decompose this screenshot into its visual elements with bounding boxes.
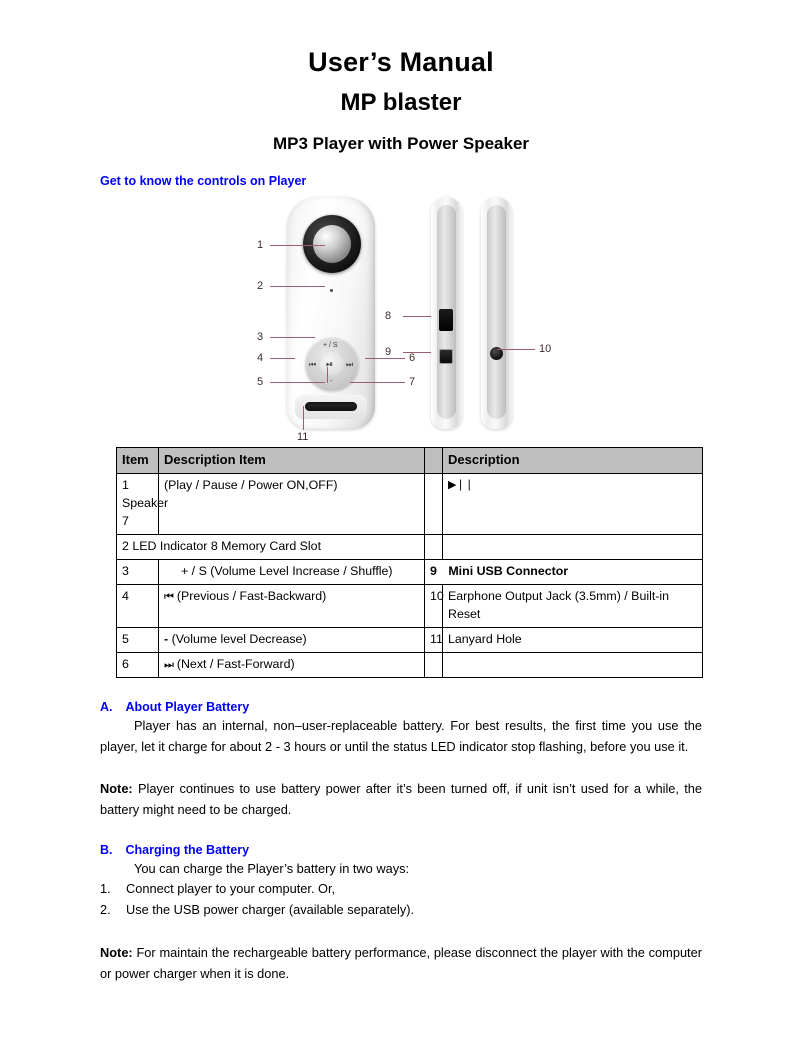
document-title-line1: User’s Manual xyxy=(100,0,702,78)
callout-6: 6 xyxy=(409,353,415,364)
product-diagram: + / S ⏮ ⏯ ⏭ - xyxy=(100,192,702,447)
table-row: 6 ⏭ (Next / Fast-Forward) xyxy=(117,652,703,677)
lanyard-hole-icon xyxy=(305,402,357,411)
section-b-heading: B. Charging the Battery xyxy=(100,843,702,857)
section-b-letter: B. xyxy=(100,843,113,857)
section-a-heading: A. About Player Battery xyxy=(100,700,702,714)
leader-line-5 xyxy=(270,382,325,383)
pad-label-previous: ⏮ xyxy=(309,361,316,369)
callout-11: 11 xyxy=(297,432,308,443)
row4-desc: (Previous / Fast-Backward) xyxy=(177,589,326,603)
leader-line-2 xyxy=(270,286,325,287)
th-item: Item xyxy=(117,448,159,474)
row3-desc2: Mini USB Connector xyxy=(440,564,568,578)
section-heading-controls: Get to know the controls on Player xyxy=(100,153,702,188)
row5-desc2: Lanyard Hole xyxy=(443,627,703,652)
table-row: 4 ⏮ (Previous / Fast-Backward) 10 Earpho… xyxy=(117,584,703,627)
row4-desc2: Earphone Output Jack (3.5mm) / Built-in … xyxy=(443,584,703,627)
row3-desc: + / S (Volume Level Increase / Shuffle) xyxy=(159,559,425,584)
row2-blank xyxy=(425,534,443,559)
row6-desc: (Next / Fast-Forward) xyxy=(177,657,295,671)
th-blank xyxy=(425,448,443,474)
row5-item: 5 xyxy=(117,627,159,652)
section-b-paragraph: You can charge the Player’s battery in t… xyxy=(100,859,702,880)
leader-line-7-v xyxy=(327,367,328,383)
leader-line-4 xyxy=(270,358,295,359)
callout-2: 2 xyxy=(257,281,263,292)
row1-blank xyxy=(425,474,443,535)
section-b-note: Note: For maintain the rechargeable batt… xyxy=(100,943,702,984)
list-item: 1. Connect player to your computer. Or, xyxy=(100,879,702,900)
section-a-letter: A. xyxy=(100,700,113,714)
list-item-1-text: Connect player to your computer. Or, xyxy=(126,879,335,900)
section-a-note-label: Note: xyxy=(100,781,133,796)
row4-item2: 10 xyxy=(425,584,443,627)
table-row: 1 Speaker 7 (Play / Pause / Power ON,OFF… xyxy=(117,474,703,535)
section-b-note-text: For maintain the rechargeable battery pe… xyxy=(100,945,702,981)
table-header-row: Item Description Item Description xyxy=(117,448,703,474)
list-item-2-text: Use the USB power charger (available sep… xyxy=(126,900,414,921)
row1-merged-desc: (Play / Pause / Power ON,OFF) xyxy=(159,474,425,535)
row4-desc-cell: ⏮ (Previous / Fast-Backward) xyxy=(159,584,425,627)
row1-play-pause-icon: ▶❘❘ xyxy=(443,474,703,535)
skip-forward-icon: ⏭ xyxy=(164,658,173,671)
leader-line-6 xyxy=(365,358,405,359)
pad-label-volume-down: - xyxy=(330,378,332,385)
table-row: 2 LED Indicator 8 Memory Card Slot xyxy=(117,534,703,559)
section-a-note-text: Player continues to use battery power af… xyxy=(100,781,702,817)
pad-label-next: ⏭ xyxy=(346,361,353,369)
section-b: B. Charging the Battery You can charge t… xyxy=(100,843,702,985)
row5-desc-cell: - (Volume level Decrease) xyxy=(159,627,425,652)
row3-item2-desc2: 9 Mini USB Connector xyxy=(425,559,703,584)
list-item-1-number: 1. xyxy=(100,879,112,900)
row6-item: 6 xyxy=(117,652,159,677)
controls-table: Item Description Item Description 1 Spea… xyxy=(116,447,703,678)
callout-10: 10 xyxy=(539,344,551,355)
section-a-title: About Player Battery xyxy=(126,700,250,714)
row2-blank2 xyxy=(443,534,703,559)
row2-merged-label: 2 LED Indicator 8 Memory Card Slot xyxy=(117,534,425,559)
leader-line-1 xyxy=(270,245,325,246)
leader-line-3 xyxy=(270,337,315,338)
callout-7: 7 xyxy=(409,377,415,388)
section-a-paragraph: Player has an internal, non–user-replace… xyxy=(100,716,702,757)
callout-9: 9 xyxy=(385,347,391,358)
row3-item2: 9 xyxy=(430,564,437,578)
mini-usb-connector-icon xyxy=(439,349,453,364)
leader-line-7 xyxy=(350,382,405,383)
document-page: User’s Manual MP blaster MP3 Player with… xyxy=(0,0,802,1037)
callout-8: 8 xyxy=(385,311,391,322)
leader-line-10 xyxy=(497,349,535,350)
document-title-line2: MP blaster xyxy=(100,78,702,117)
callout-1: 1 xyxy=(257,240,263,251)
player-front-view: + / S ⏮ ⏯ ⏭ - xyxy=(287,197,375,429)
leader-line-11 xyxy=(303,406,304,430)
row6-item2 xyxy=(425,652,443,677)
section-a-note: Note: Player continues to use battery po… xyxy=(100,779,702,820)
th-description-item: Description Item xyxy=(159,448,425,474)
player-side-view-left xyxy=(431,197,462,429)
section-b-note-label: Note: xyxy=(100,945,133,960)
skip-backward-icon: ⏮ xyxy=(164,590,173,603)
minus-icon: - xyxy=(164,632,168,646)
lanyard-plate xyxy=(295,395,367,419)
list-item: 2. Use the USB power charger (available … xyxy=(100,900,702,921)
callout-3: 3 xyxy=(257,332,263,343)
memory-card-slot-icon xyxy=(439,309,453,331)
leader-line-8 xyxy=(403,316,431,317)
charging-methods-list: 1. Connect player to your computer. Or, … xyxy=(100,879,702,920)
section-a: A. About Player Battery Player has an in… xyxy=(100,700,702,821)
list-item-2-number: 2. xyxy=(100,900,112,921)
row3-item: 3 xyxy=(117,559,159,584)
row6-desc2 xyxy=(443,652,703,677)
speaker-icon xyxy=(303,215,361,273)
callout-4: 4 xyxy=(257,353,263,364)
row4-item: 4 xyxy=(117,584,159,627)
row5-desc: (Volume level Decrease) xyxy=(172,632,307,646)
pad-label-volume-up: + / S xyxy=(323,342,338,349)
section-b-title: Charging the Battery xyxy=(126,843,250,857)
led-indicator-icon xyxy=(330,289,333,292)
row5-item2: 11 xyxy=(425,627,443,652)
document-subtitle: MP3 Player with Power Speaker xyxy=(100,117,702,154)
player-side-view-right xyxy=(481,197,512,429)
table-row: 3 + / S (Volume Level Increase / Shuffle… xyxy=(117,559,703,584)
table-row: 5 - (Volume level Decrease) 11 Lanyard H… xyxy=(117,627,703,652)
callout-5: 5 xyxy=(257,377,263,388)
leader-line-9 xyxy=(403,352,431,353)
th-description: Description xyxy=(443,448,703,474)
row1-merged-label: 1 Speaker 7 xyxy=(117,474,159,535)
row6-desc-cell: ⏭ (Next / Fast-Forward) xyxy=(159,652,425,677)
